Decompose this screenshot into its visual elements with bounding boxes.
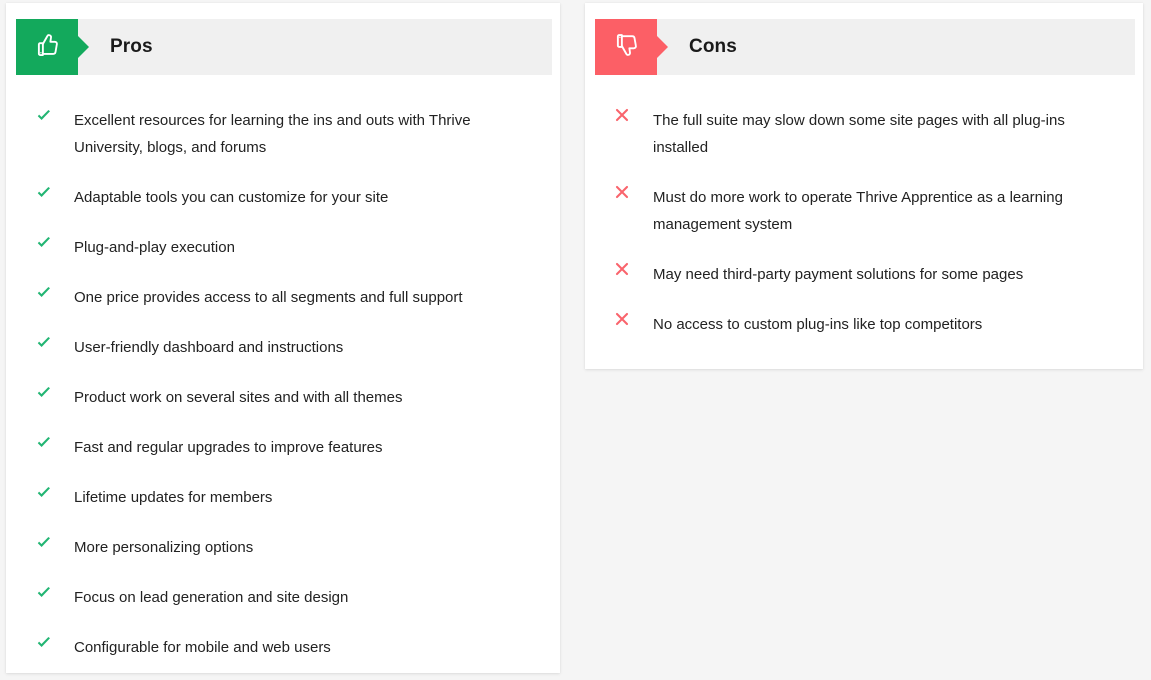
check-icon: [36, 284, 74, 301]
list-item: The full suite may slow down some site p…: [615, 107, 1103, 161]
cons-header-bar: [595, 19, 1135, 75]
cons-badge: [595, 19, 657, 75]
list-item-text: Plug-and-play execution: [74, 234, 235, 261]
pros-list: Excellent resources for learning the ins…: [6, 75, 560, 661]
pros-title: Pros: [110, 19, 153, 75]
list-item-text: The full suite may slow down some site p…: [653, 107, 1103, 161]
pros-card-header: Pros: [16, 19, 552, 75]
pros-header-bar: [16, 19, 552, 75]
cross-icon: [615, 311, 653, 326]
list-item-text: No access to custom plug-ins like top co…: [653, 311, 982, 338]
cross-icon: [615, 261, 653, 276]
list-item: No access to custom plug-ins like top co…: [615, 311, 1103, 338]
list-item: Focus on lead generation and site design: [36, 584, 520, 611]
check-icon: [36, 184, 74, 201]
list-item-text: Must do more work to operate Thrive Appr…: [653, 184, 1103, 238]
list-item: Configurable for mobile and web users: [36, 634, 520, 661]
list-item: Plug-and-play execution: [36, 234, 520, 261]
cross-icon: [615, 107, 653, 122]
list-item-text: Adaptable tools you can customize for yo…: [74, 184, 388, 211]
check-icon: [36, 584, 74, 601]
list-item: User-friendly dashboard and instructions: [36, 334, 520, 361]
cons-card-header: Cons: [595, 19, 1135, 75]
check-icon: [36, 384, 74, 401]
check-icon: [36, 234, 74, 251]
cons-title: Cons: [689, 19, 737, 75]
cons-list: The full suite may slow down some site p…: [585, 75, 1143, 338]
list-item: Must do more work to operate Thrive Appr…: [615, 184, 1103, 238]
check-icon: [36, 107, 74, 124]
check-icon: [36, 434, 74, 451]
list-item: Adaptable tools you can customize for yo…: [36, 184, 520, 211]
list-item-text: One price provides access to all segment…: [74, 284, 463, 311]
list-item-text: May need third-party payment solutions f…: [653, 261, 1023, 288]
list-item: Fast and regular upgrades to improve fea…: [36, 434, 520, 461]
pros-badge: [16, 19, 78, 75]
list-item-text: Excellent resources for learning the ins…: [74, 107, 514, 161]
list-item: Product work on several sites and with a…: [36, 384, 520, 411]
list-item-text: Focus on lead generation and site design: [74, 584, 348, 611]
thumbs-down-icon: [611, 30, 641, 65]
pros-card: Pros Excellent resources for learning th…: [6, 3, 560, 673]
list-item-text: User-friendly dashboard and instructions: [74, 334, 343, 361]
list-item-text: Product work on several sites and with a…: [74, 384, 402, 411]
list-item-text: More personalizing options: [74, 534, 253, 561]
list-item: Excellent resources for learning the ins…: [36, 107, 520, 161]
list-item-text: Configurable for mobile and web users: [74, 634, 331, 661]
list-item: Lifetime updates for members: [36, 484, 520, 511]
list-item-text: Fast and regular upgrades to improve fea…: [74, 434, 383, 461]
check-icon: [36, 534, 74, 551]
cons-card: Cons The full suite may slow down some s…: [585, 3, 1143, 369]
cross-icon: [615, 184, 653, 199]
check-icon: [36, 484, 74, 501]
list-item: More personalizing options: [36, 534, 520, 561]
list-item: One price provides access to all segment…: [36, 284, 520, 311]
thumbs-up-icon: [32, 30, 62, 65]
list-item-text: Lifetime updates for members: [74, 484, 272, 511]
check-icon: [36, 334, 74, 351]
list-item: May need third-party payment solutions f…: [615, 261, 1103, 288]
check-icon: [36, 634, 74, 651]
pros-cons-comparison: Pros Excellent resources for learning th…: [0, 0, 1151, 680]
